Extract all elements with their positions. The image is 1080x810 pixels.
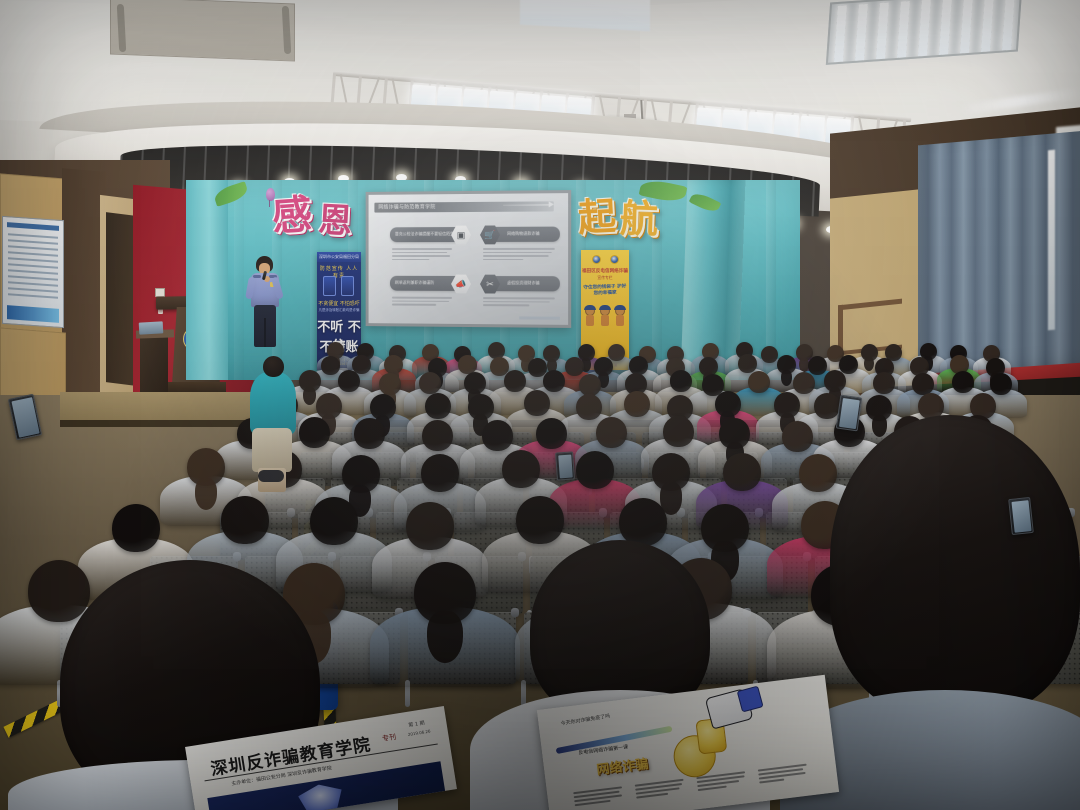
audience-member-ponytail bbox=[872, 415, 887, 437]
audience-member-head bbox=[536, 418, 567, 449]
audience-member-head bbox=[576, 394, 602, 420]
audience-member-head bbox=[814, 393, 840, 419]
audience-member-head bbox=[799, 454, 837, 492]
audience-member-head bbox=[839, 355, 858, 374]
audience-member-head bbox=[738, 354, 757, 373]
standing-person-head bbox=[263, 356, 284, 377]
audience-member-head bbox=[310, 497, 358, 545]
audience-member-head bbox=[873, 372, 895, 394]
audience-member-head bbox=[543, 370, 565, 392]
audience-member-head bbox=[596, 417, 627, 448]
standing-person-shoes bbox=[258, 470, 284, 482]
audience-member-head bbox=[761, 346, 778, 363]
audience-member-head bbox=[990, 373, 1012, 395]
audience-member-head bbox=[419, 372, 441, 394]
audience-member-head bbox=[221, 496, 269, 544]
audience-member-head bbox=[112, 504, 160, 552]
smartphone-recording[interactable] bbox=[836, 395, 863, 432]
audience-member-head bbox=[516, 496, 564, 544]
audience-member-head bbox=[663, 416, 694, 447]
audience-member-ponytail bbox=[781, 370, 792, 386]
audience-member-head bbox=[338, 370, 360, 392]
audience-member-head bbox=[406, 502, 454, 550]
leaflet-title: 网络诈骗 bbox=[595, 753, 649, 778]
newspaper-issue: 第 1 期 bbox=[408, 719, 425, 728]
auditorium-photo: 感 恩 起 航 网络诈骗与防范教育学院 冒充公检法诈骗提醒不要轻信陌生电话 ▣ … bbox=[0, 0, 1080, 810]
standing-person-shorts bbox=[252, 428, 292, 472]
audience-member-head bbox=[608, 344, 625, 361]
audience-member-head bbox=[421, 454, 459, 492]
audience-member-head bbox=[299, 417, 330, 448]
leaflet-kicker: 今天你对诈骗免疫了吗 bbox=[560, 712, 610, 727]
audience-member-head bbox=[524, 390, 550, 416]
audience-member-head bbox=[629, 356, 648, 375]
smartphone-recording[interactable] bbox=[1008, 497, 1034, 535]
audience-member-head bbox=[422, 420, 453, 451]
audience-member-head bbox=[723, 453, 761, 491]
newspaper-badge: 专刊 bbox=[381, 732, 396, 744]
audience-member-ponytail bbox=[195, 478, 217, 510]
leaflet-body-column bbox=[573, 786, 627, 809]
audience-member-head bbox=[748, 371, 770, 393]
smartphone-recording[interactable] bbox=[555, 451, 575, 480]
audience-member-head bbox=[321, 356, 340, 375]
audience-member-head bbox=[502, 450, 540, 488]
audience-member-ponytail bbox=[427, 611, 463, 664]
audience-member-head bbox=[565, 357, 584, 376]
audience-member-head bbox=[619, 498, 667, 546]
leaflet-body-column bbox=[635, 778, 689, 801]
audience-member-head bbox=[28, 560, 90, 622]
newspaper-date: 2019.06.26 bbox=[407, 728, 430, 737]
standing-person-teal-shirt bbox=[250, 372, 296, 434]
audience-member-head bbox=[354, 418, 385, 449]
audience-member-head bbox=[793, 372, 815, 394]
audience-member-head bbox=[425, 393, 451, 419]
audience-member-head bbox=[912, 373, 934, 395]
sleeve-cuff-illustration bbox=[737, 686, 764, 713]
audience-member-head bbox=[576, 451, 614, 489]
audience-member-head bbox=[624, 391, 650, 417]
leaflet-body-column bbox=[758, 763, 812, 786]
audience-member-head bbox=[504, 370, 526, 392]
audience-member-head bbox=[482, 420, 513, 451]
audience-member-head bbox=[670, 370, 692, 392]
audience-member-head bbox=[782, 421, 813, 452]
